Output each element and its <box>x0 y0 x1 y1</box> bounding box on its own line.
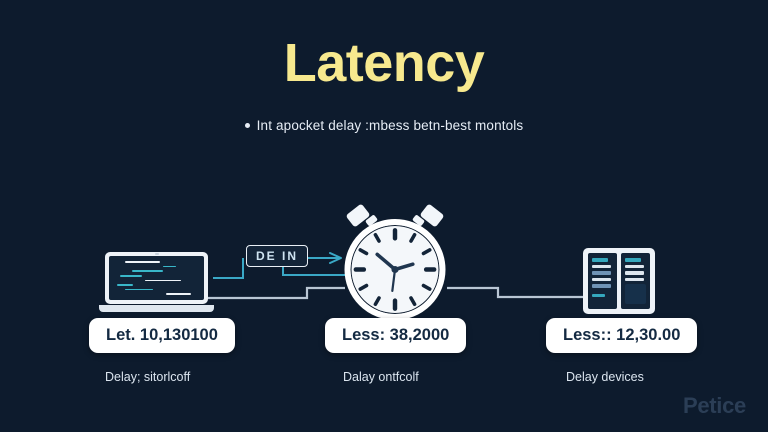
code-line <box>166 293 191 295</box>
clock-dial <box>351 225 440 314</box>
code-line <box>125 289 153 291</box>
server-line <box>592 271 611 275</box>
server-line <box>592 258 608 262</box>
laptop-icon <box>105 252 208 312</box>
caption-clock: Dalay ontfcolf <box>343 370 419 384</box>
laptop-base <box>99 305 214 312</box>
code-line <box>163 266 176 268</box>
metric-chip-server: Less:: 12,30.00 <box>546 318 697 353</box>
server-line <box>625 271 644 275</box>
metric-chip-clock: Less: 38,2000 <box>325 318 466 353</box>
server-block <box>625 284 646 304</box>
server-column-right <box>621 253 650 309</box>
laptop-camera-icon <box>155 253 159 255</box>
code-line <box>117 284 134 286</box>
server-line <box>625 258 641 262</box>
clock-face <box>345 219 446 320</box>
caption-server: Delay devices <box>566 370 644 384</box>
server-column-left <box>588 253 617 309</box>
code-line <box>132 270 164 272</box>
server-line <box>625 265 644 269</box>
delay-in-badge: DE IN <box>246 245 308 267</box>
server-line <box>592 265 611 269</box>
metric-chip-laptop: Let. 10,130100 <box>89 318 235 353</box>
server-line <box>625 278 644 282</box>
code-line <box>125 261 160 263</box>
code-line <box>120 275 142 277</box>
clock-knob-right <box>420 203 445 227</box>
laptop-lid <box>105 252 208 304</box>
code-line <box>145 280 182 282</box>
server-line <box>592 294 605 298</box>
caption-laptop: Delay; sitorlcoff <box>105 370 190 384</box>
stopwatch-icon <box>330 208 460 320</box>
laptop-screen <box>109 256 204 300</box>
server-line <box>592 284 611 288</box>
diagram-stage: DE IN <box>0 0 768 432</box>
server-icon <box>583 248 655 314</box>
clock-center-pin <box>391 266 398 273</box>
server-line <box>592 278 611 282</box>
watermark: Petice <box>683 393 746 419</box>
